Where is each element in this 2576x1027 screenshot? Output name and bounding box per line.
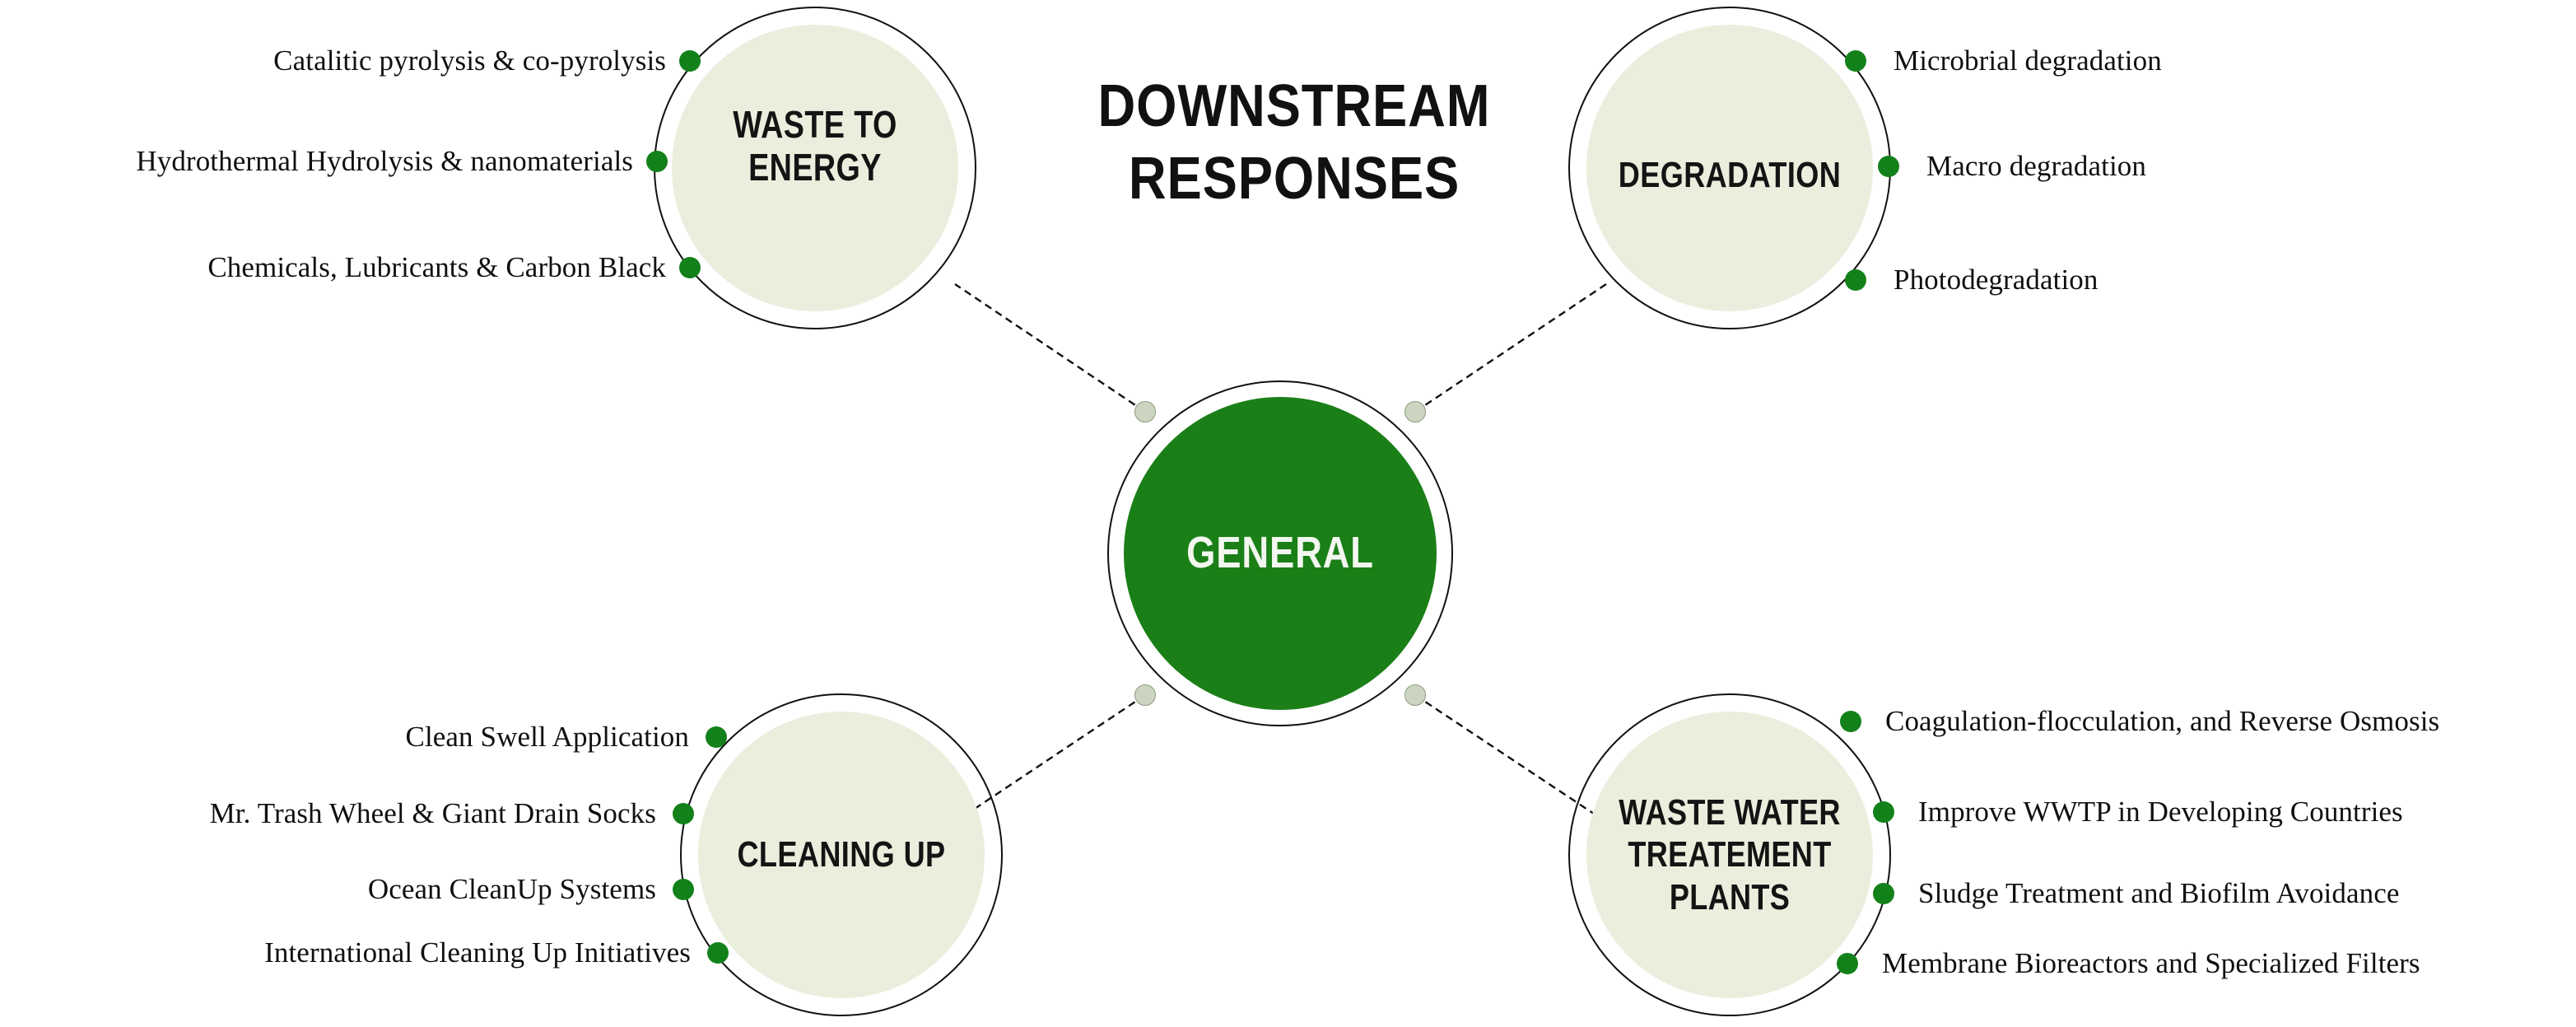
- node-waste-to-energy[interactable]: WASTE TO ENERGY: [654, 7, 976, 329]
- leaf-dot-membrane-bioreactors[interactable]: [1837, 953, 1858, 974]
- node-label-waste-water-treatement-plants: WASTE WATER TREATEMENT PLANTS: [1597, 693, 1861, 1016]
- node-label-waste-to-energy: WASTE TO ENERGY: [682, 104, 947, 189]
- hub-label-general: GENERAL: [1135, 527, 1426, 578]
- node-label-degradation: DEGRADATION: [1597, 155, 1861, 195]
- wire-hub-to-degradation: [1415, 284, 1606, 412]
- leaf-label-microbrial-degradation[interactable]: Microbrial degradation: [1894, 44, 2162, 77]
- leaf-dot-sludge-treatment[interactable]: [1873, 883, 1894, 904]
- leaf-dot-international-initiatives[interactable]: [707, 942, 729, 964]
- leaf-dot-trash-wheel[interactable]: [673, 803, 694, 824]
- leaf-label-improve-wwtp[interactable]: Improve WWTP in Developing Countries: [1918, 796, 2403, 829]
- leaf-label-photodegradation[interactable]: Photodegradation: [1894, 264, 2099, 296]
- leaf-dot-chemicals-lubricants[interactable]: [679, 257, 701, 278]
- leaf-label-hydrothermal-hydrolysis[interactable]: Hydrothermal Hydrolysis & nanomaterials: [136, 145, 633, 178]
- leaf-dot-coagulation-flocculation[interactable]: [1840, 711, 1861, 732]
- leaf-dot-microbrial-degradation[interactable]: [1845, 50, 1866, 72]
- mindmap-diagram: WASTE TO ENERGY Catalitic pyrolysis & co…: [0, 0, 2576, 1027]
- hub-connector-dot-bottom-right[interactable]: [1404, 684, 1426, 706]
- hub-connector-dot-top-left[interactable]: [1134, 401, 1156, 422]
- leaf-label-macro-degradation[interactable]: Macro degradation: [1926, 150, 2146, 183]
- leaf-dot-clean-swell[interactable]: [706, 726, 727, 748]
- leaf-dot-catalitic-pyrolysis[interactable]: [679, 50, 701, 72]
- leaf-label-coagulation-flocculation[interactable]: Coagulation-flocculation, and Reverse Os…: [1885, 705, 2439, 738]
- leaf-label-sludge-treatment[interactable]: Sludge Treatment and Biofilm Avoidance: [1918, 877, 2399, 910]
- hub-connector-dot-bottom-left[interactable]: [1134, 684, 1156, 706]
- hub-connector-dot-top-right[interactable]: [1404, 401, 1426, 422]
- hub-node-general[interactable]: GENERAL: [1107, 380, 1453, 726]
- leaf-dot-macro-degradation[interactable]: [1878, 156, 1899, 177]
- node-degradation[interactable]: DEGRADATION: [1568, 7, 1891, 329]
- leaf-dot-hydrothermal-hydrolysis[interactable]: [646, 151, 668, 172]
- leaf-dot-photodegradation[interactable]: [1845, 269, 1866, 291]
- leaf-label-international-initiatives[interactable]: International Cleaning Up Initiatives: [264, 936, 691, 969]
- node-label-cleaning-up: CLEANING UP: [709, 693, 973, 1016]
- page-title: DOWNSTREAM RESPONSES: [1077, 71, 1512, 216]
- leaf-label-chemicals-lubricants[interactable]: Chemicals, Lubricants & Carbon Black: [207, 251, 666, 284]
- leaf-label-trash-wheel[interactable]: Mr. Trash Wheel & Giant Drain Socks: [210, 797, 656, 830]
- leaf-label-catalitic-pyrolysis[interactable]: Catalitic pyrolysis & co-pyrolysis: [273, 44, 666, 77]
- leaf-dot-ocean-cleanup[interactable]: [673, 879, 694, 900]
- leaf-label-membrane-bioreactors[interactable]: Membrane Bioreactors and Specialized Fil…: [1882, 947, 2420, 980]
- leaf-label-ocean-cleanup[interactable]: Ocean CleanUp Systems: [368, 873, 656, 906]
- leaf-label-clean-swell[interactable]: Clean Swell Application: [406, 721, 689, 754]
- leaf-dot-improve-wwtp[interactable]: [1873, 801, 1894, 823]
- wire-hub-to-waste-to-energy: [955, 284, 1145, 412]
